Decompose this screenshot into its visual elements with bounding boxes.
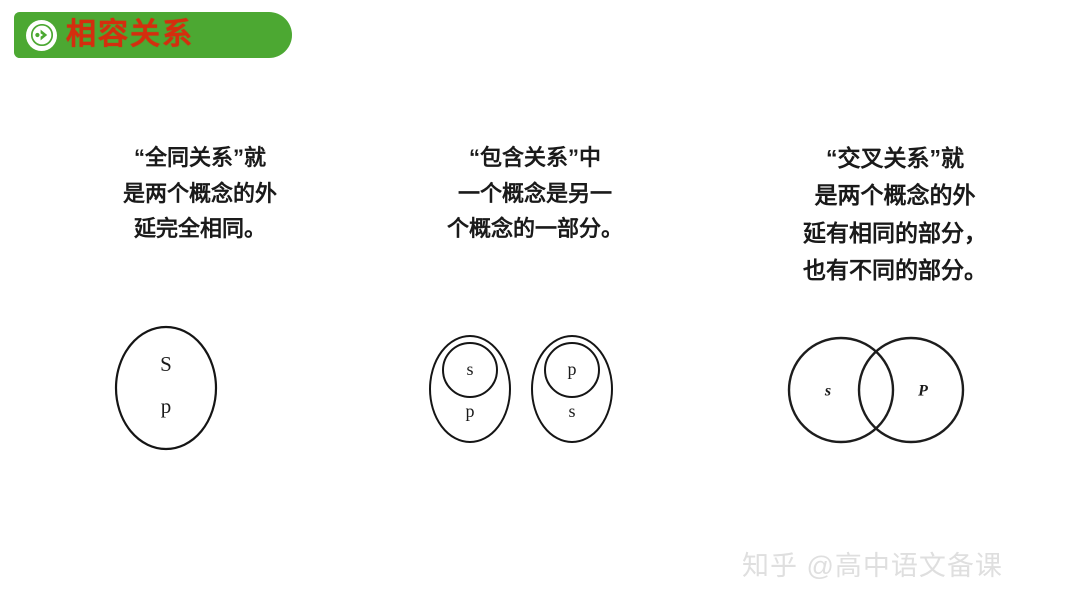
inclusion-right-inner-label: p bbox=[568, 359, 577, 379]
identity-label-s: S bbox=[160, 352, 172, 376]
text-line: 个概念的一部分。 bbox=[415, 211, 655, 247]
text-line: “交叉关系”就 bbox=[760, 140, 1030, 177]
inclusion-right-outer-label: s bbox=[568, 401, 575, 421]
intersection-relation-text: “交叉关系”就 是两个概念的外 延有相同的部分， 也有不同的部分。 bbox=[760, 140, 1030, 289]
column-identity-relation: “全同关系”就 是两个概念的外 延完全相同。 bbox=[80, 140, 320, 247]
text-line: 也有不同的部分。 bbox=[760, 252, 1030, 289]
text-line: 延有相同的部分， bbox=[760, 215, 1030, 252]
identity-venn-diagram: S p bbox=[108, 320, 228, 460]
column-inclusion-relation: “包含关系”中 一个概念是另一 个概念的一部分。 bbox=[415, 140, 655, 247]
inclusion-relation-text: “包含关系”中 一个概念是另一 个概念的一部分。 bbox=[415, 140, 655, 247]
intersection-label-s: s bbox=[824, 383, 831, 400]
content-columns: “全同关系”就 是两个概念的外 延完全相同。 “包含关系”中 一个概念是另一 个… bbox=[0, 0, 1080, 608]
text-line: 一个概念是另一 bbox=[415, 176, 655, 212]
text-line: “全同关系”就 bbox=[80, 140, 320, 176]
identity-relation-text: “全同关系”就 是两个概念的外 延完全相同。 bbox=[80, 140, 320, 247]
intersection-left-circle bbox=[789, 338, 893, 442]
text-line: 是两个概念的外 bbox=[80, 176, 320, 212]
inclusion-venn-diagram: s p p s bbox=[420, 332, 630, 452]
slide-canvas: 相容关系 “全同关系”就 是两个概念的外 延完全相同。 “包含关系”中 一个概念… bbox=[0, 0, 1080, 608]
inclusion-left-outer-label: p bbox=[466, 401, 475, 421]
intersection-venn-diagram: s P bbox=[785, 332, 975, 457]
watermark: 知乎 @高中语文备课 bbox=[742, 544, 1003, 583]
intersection-right-circle bbox=[859, 338, 963, 442]
identity-ellipse bbox=[116, 327, 216, 449]
column-intersection-relation: “交叉关系”就 是两个概念的外 延有相同的部分， 也有不同的部分。 bbox=[760, 140, 1030, 289]
text-line: 延完全相同。 bbox=[80, 211, 320, 247]
intersection-label-p: P bbox=[917, 383, 928, 400]
text-line: “包含关系”中 bbox=[415, 140, 655, 176]
text-line: 是两个概念的外 bbox=[760, 177, 1030, 214]
inclusion-left-inner-label: s bbox=[466, 359, 473, 379]
identity-label-p: p bbox=[161, 394, 172, 418]
